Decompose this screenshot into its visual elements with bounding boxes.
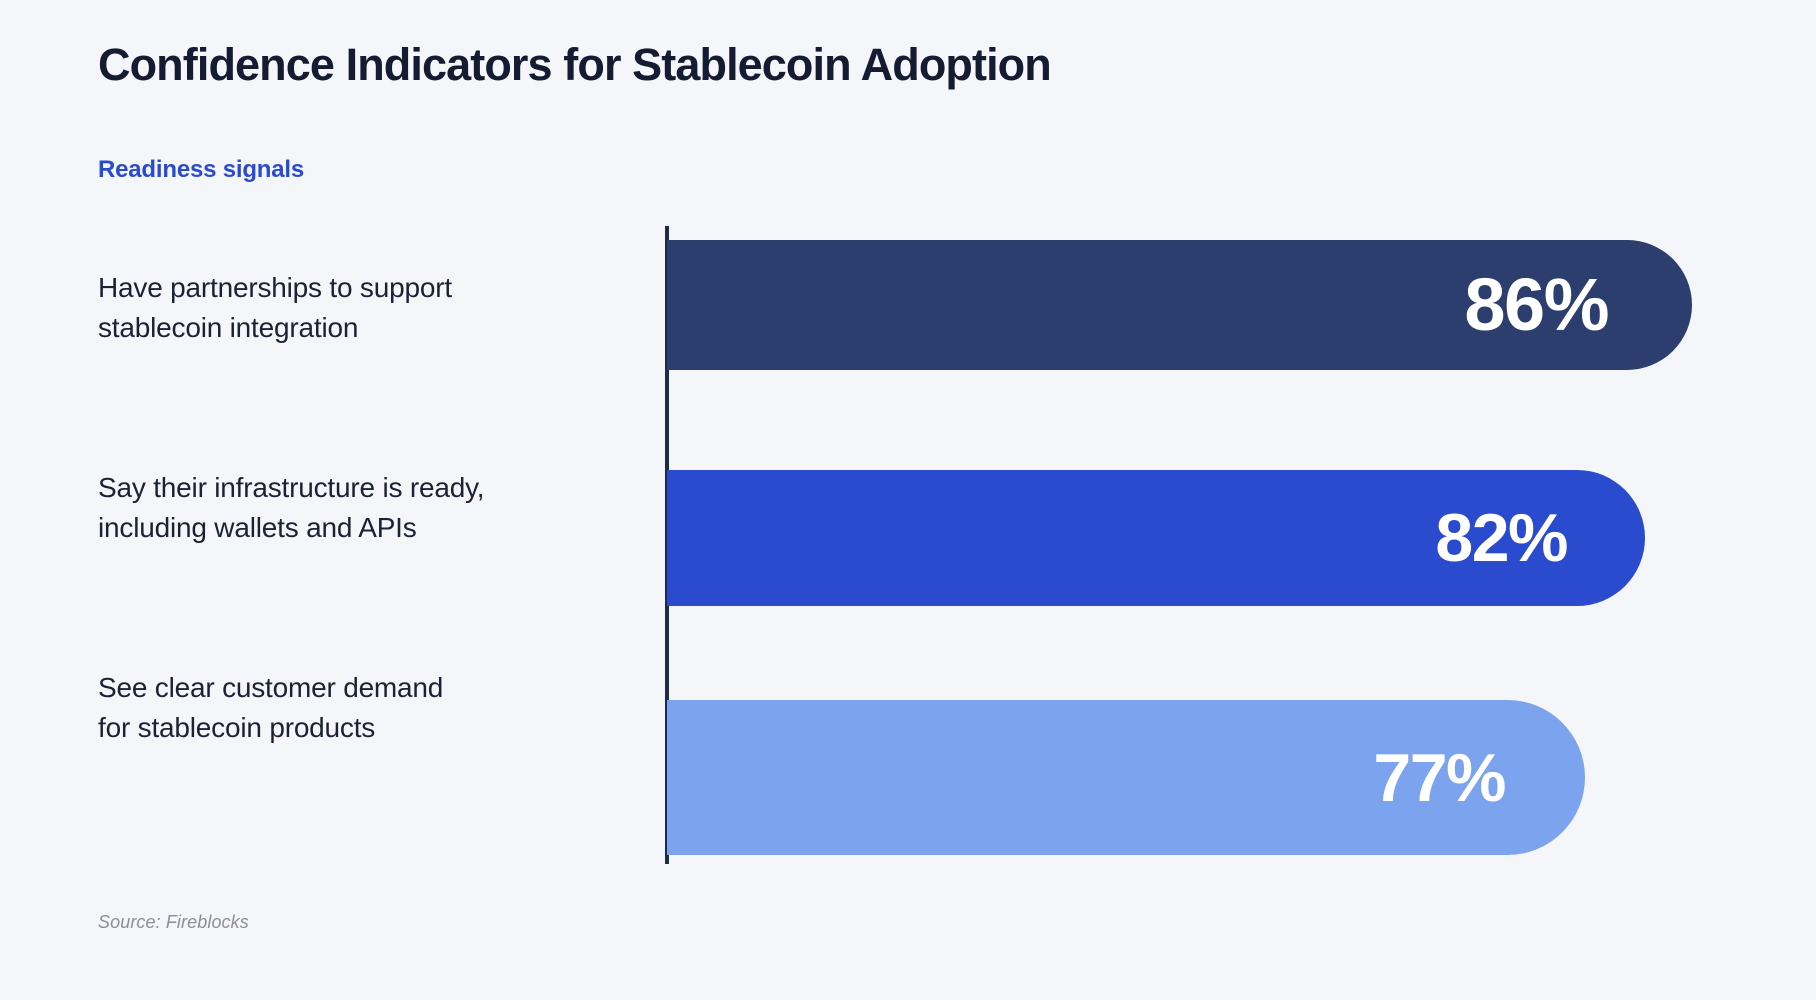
bar-segment[interactable]: 86% — [667, 240, 1692, 370]
bar-value-label: 82% — [1435, 504, 1645, 572]
bar-segment[interactable]: 77% — [667, 700, 1585, 855]
bar-category-label: See clear customer demand for stablecoin… — [98, 668, 658, 748]
chart-canvas: Confidence Indicators for Stablecoin Ado… — [0, 0, 1816, 1000]
bar-value-label: 77% — [1373, 744, 1585, 812]
bar-category-label: Say their infrastructure is ready, inclu… — [98, 468, 658, 548]
bar-chart-plot-area: Have partnerships to support stablecoin … — [0, 0, 1816, 1000]
bar-segment[interactable]: 82% — [667, 470, 1645, 606]
source-note: Source: Fireblocks — [98, 912, 249, 933]
bar-value-label: 86% — [1464, 268, 1692, 342]
bar-category-label: Have partnerships to support stablecoin … — [98, 268, 658, 348]
